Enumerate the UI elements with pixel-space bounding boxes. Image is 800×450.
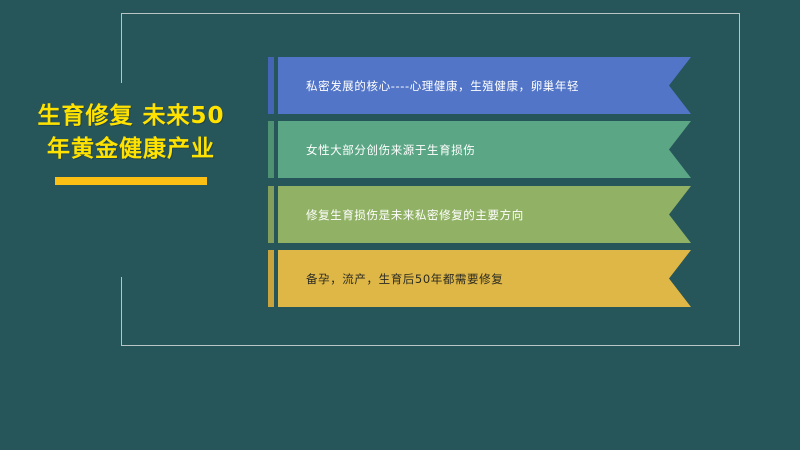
banner-spacer — [274, 186, 278, 243]
banner-spacer — [274, 57, 278, 114]
banner-body[interactable]: 女性大部分创伤来源于生育损伤 — [278, 121, 691, 178]
banner-row[interactable]: 修复生育损伤是未来私密修复的主要方向 — [268, 186, 691, 243]
banner-body[interactable]: 修复生育损伤是未来私密修复的主要方向 — [278, 186, 691, 243]
banner-row[interactable]: 女性大部分创伤来源于生育损伤 — [268, 121, 691, 178]
frame-right-line — [739, 13, 740, 346]
frame-top-line — [121, 13, 740, 14]
title-underline-rule — [55, 177, 207, 185]
banner-body[interactable]: 私密发展的核心----心理健康，生殖健康，卵巢年轻 — [278, 57, 691, 114]
frame-left-line-upper — [121, 13, 122, 83]
frame-left-line-lower — [121, 277, 122, 346]
banner-label: 备孕，流产，生育后50年都需要修复 — [306, 271, 503, 287]
slide-canvas: 生育修复 未来50年黄金健康产业 私密发展的核心----心理健康，生殖健康，卵巢… — [0, 0, 800, 450]
banner-row[interactable]: 私密发展的核心----心理健康，生殖健康，卵巢年轻 — [268, 57, 691, 114]
title-block: 生育修复 未来50年黄金健康产业 — [28, 100, 234, 185]
page-title: 生育修复 未来50年黄金健康产业 — [28, 100, 234, 166]
banner-label: 私密发展的核心----心理健康，生殖健康，卵巢年轻 — [306, 78, 579, 94]
banner-body[interactable]: 备孕，流产，生育后50年都需要修复 — [278, 250, 691, 307]
frame-bottom-line — [121, 345, 740, 346]
banner-spacer — [274, 250, 278, 307]
banner-row[interactable]: 备孕，流产，生育后50年都需要修复 — [268, 250, 691, 307]
banner-label: 修复生育损伤是未来私密修复的主要方向 — [306, 207, 524, 223]
banner-label: 女性大部分创伤来源于生育损伤 — [306, 142, 475, 158]
banner-spacer — [274, 121, 278, 178]
